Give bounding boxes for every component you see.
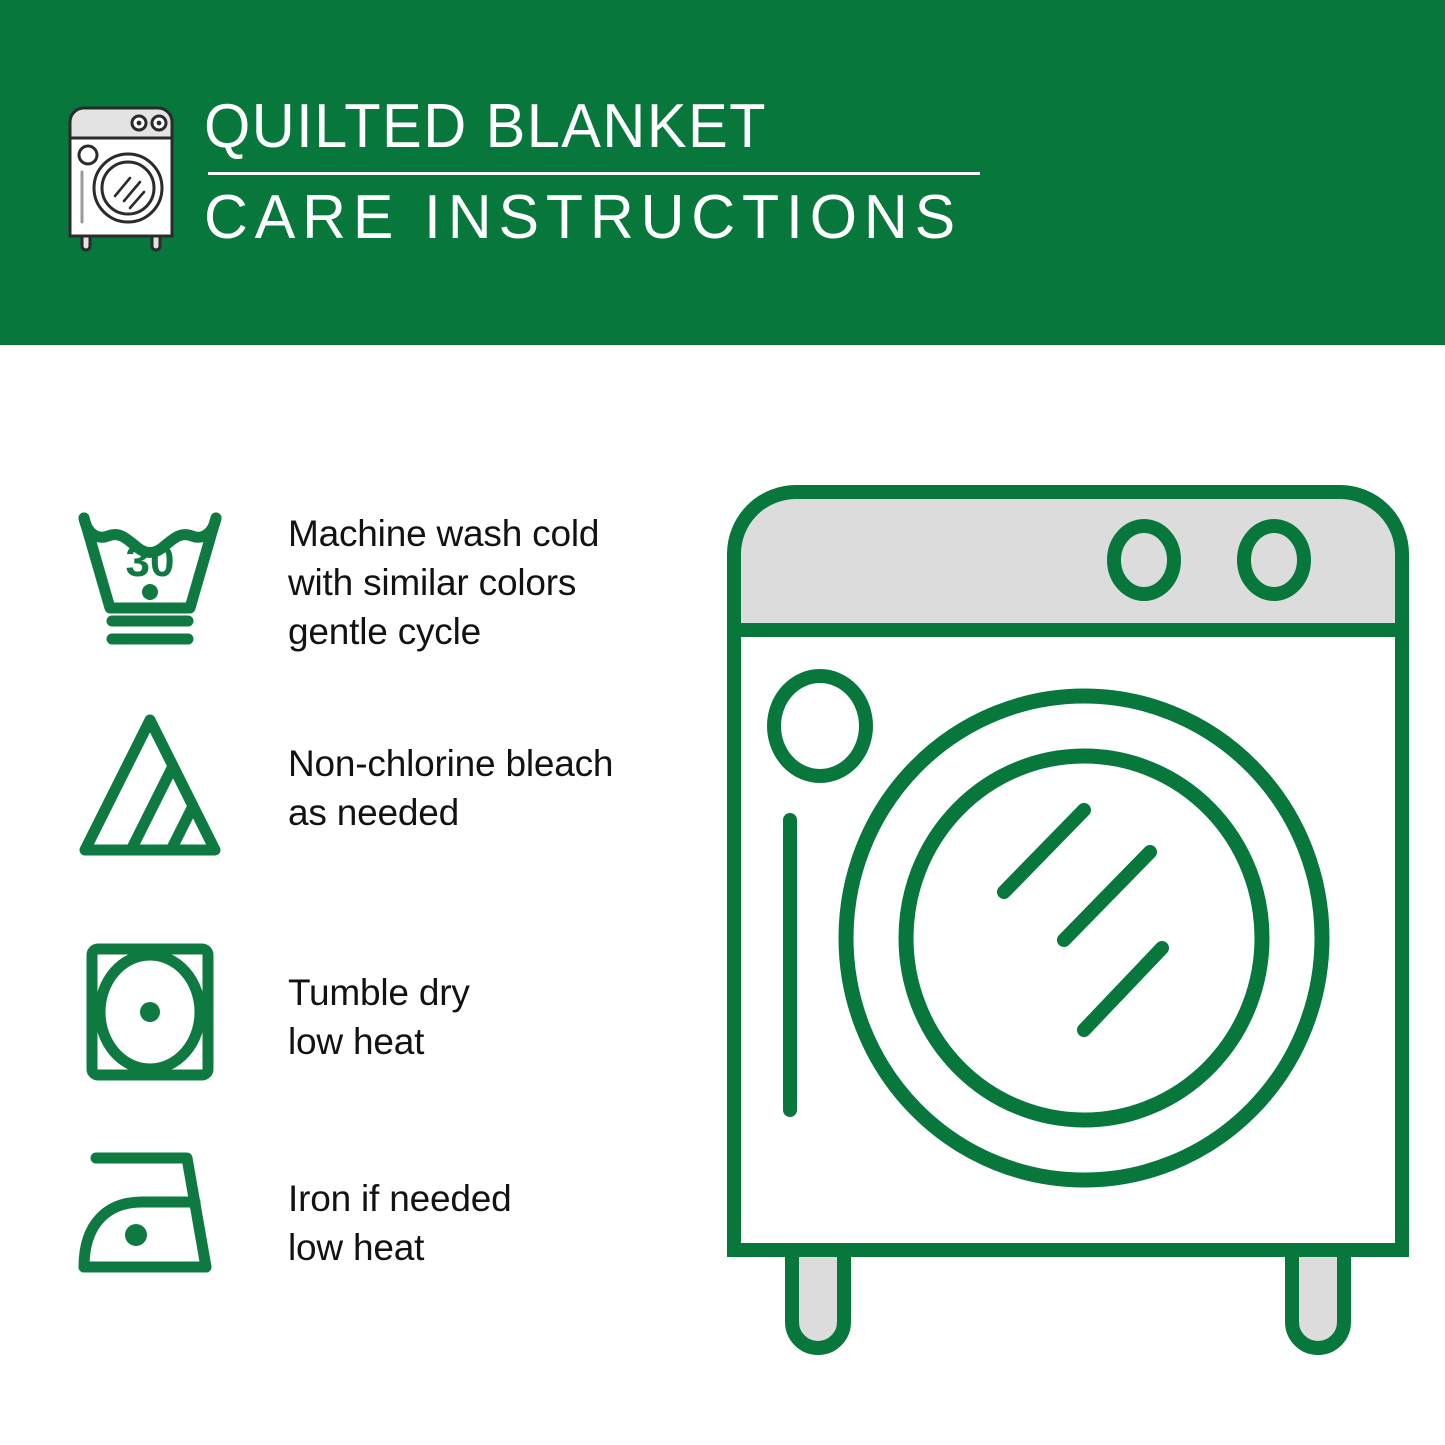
title-divider [208, 172, 980, 175]
care-instruction-list: 30 Machine wash cold with similar colors… [0, 345, 700, 1445]
header-content: QUILTED BLANKET CARE INSTRUCTIONS [62, 96, 980, 252]
machine-leg-left [792, 1250, 844, 1348]
washing-machine-icon [62, 100, 180, 252]
control-knob-left [1114, 526, 1174, 594]
care-row-tumble-dry: Tumble dry low heat [70, 937, 690, 1087]
non-chlorine-bleach-triangle-icon [70, 710, 230, 860]
care-text-machine-wash: Machine wash cold with similar colors ge… [288, 500, 599, 656]
page-subtitle: CARE INSTRUCTIONS [204, 187, 964, 249]
care-text-tumble-dry: Tumble dry low heat [288, 937, 470, 1067]
care-text-iron: Iron if needed low heat [288, 1145, 511, 1273]
care-instructions-page: QUILTED BLANKET CARE INSTRUCTIONS 30 [0, 0, 1445, 1445]
wash-temperature-label: 30 [126, 537, 175, 586]
iron-low-heat-icon [70, 1145, 230, 1285]
tumble-dry-low-heat-icon [70, 937, 230, 1087]
control-knob-right [1244, 526, 1304, 594]
care-row-bleach: Non-chlorine bleach as needed [70, 710, 690, 860]
care-row-machine-wash: 30 Machine wash cold with similar colors… [70, 500, 690, 656]
dispenser-circle [774, 676, 866, 776]
washing-machine-illustration [712, 470, 1424, 1370]
machine-leg-right [1292, 1250, 1344, 1348]
header-title-block: QUILTED BLANKET CARE INSTRUCTIONS [204, 96, 980, 249]
care-text-bleach: Non-chlorine bleach as needed [288, 710, 613, 838]
care-row-iron: Iron if needed low heat [70, 1145, 690, 1285]
wash-tub-30-gentle-icon: 30 [70, 500, 230, 650]
page-header: QUILTED BLANKET CARE INSTRUCTIONS [0, 0, 1445, 345]
page-title: QUILTED BLANKET [204, 96, 949, 158]
